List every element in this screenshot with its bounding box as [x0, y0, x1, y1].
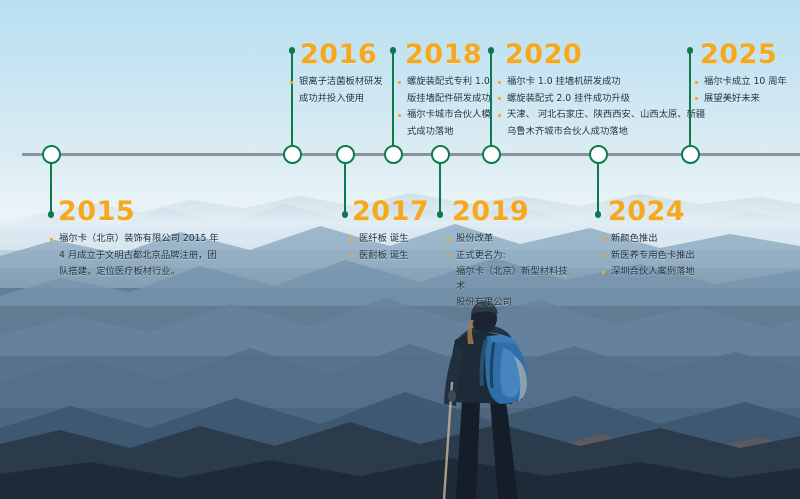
milestone-item: 天津、 河北石家庄、陕西西安、山西太原、新疆	[498, 108, 715, 123]
milestone-item: 螺旋装配式 2.0 挂件成功升级	[498, 92, 715, 107]
milestone-block-2016: 2016银离子洁菌板材研发成功并投入使用	[290, 41, 406, 108]
milestone-item: 版挂墙配件研发成功	[398, 92, 514, 107]
timeline-node-2024[interactable]	[589, 145, 608, 164]
milestone-stem-2020	[490, 50, 492, 154]
milestone-items-2016: 银离子洁菌板材研发成功并投入使用	[290, 75, 406, 106]
milestone-item: 深圳合伙人案例落地	[602, 265, 764, 280]
milestone-stem-dot-2024	[595, 211, 602, 218]
milestone-item: 成功并投入使用	[290, 92, 406, 107]
milestone-stem-2018	[392, 50, 394, 154]
milestone-item: 福尔卡成立 10 周年	[695, 75, 800, 90]
milestone-year-2015: 2015	[58, 198, 234, 225]
milestone-year-2020: 2020	[505, 41, 715, 68]
milestone-stem-dot-2017	[342, 211, 349, 218]
milestone-block-2018: 2018螺旋装配式专利 1.0版挂墙配件研发成功福尔卡城市合伙人模式成功落地	[398, 41, 514, 141]
milestone-items-2020: 福尔卡 1.0 挂墙机研发成功螺旋装配式 2.0 挂件成功升级天津、 河北石家庄…	[498, 75, 715, 139]
timeline-infographic: 2015福尔卡（北京）装饰有限公司 2015 年4 月成立于文明古都北京品牌注册…	[0, 0, 800, 499]
milestone-item: 股份改革	[447, 232, 569, 247]
timeline-node-2017[interactable]	[336, 145, 355, 164]
timeline-node-2015[interactable]	[42, 145, 61, 164]
milestone-item: 展望美好未来	[695, 92, 800, 107]
milestone-item: 乌鲁木齐城市合伙人成功落地	[498, 125, 715, 140]
timeline-node-2020[interactable]	[482, 145, 501, 164]
milestone-items-2018: 螺旋装配式专利 1.0版挂墙配件研发成功福尔卡城市合伙人模式成功落地	[398, 75, 514, 139]
milestone-item: 新颜色推出	[602, 232, 764, 247]
milestone-item: 4 月成立于文明古都北京品牌注册，团	[50, 249, 234, 264]
milestone-item: 螺旋装配式专利 1.0	[398, 75, 514, 90]
milestone-item: 福尔卡（北京）新型材料技术	[447, 265, 569, 294]
milestone-year-2024: 2024	[608, 198, 764, 225]
milestone-item: 福尔卡城市合伙人模	[398, 108, 514, 123]
milestone-block-2019: 2019股份改革正式更名为:福尔卡（北京）新型材料技术股份有限公司	[447, 198, 569, 313]
milestone-items-2019: 股份改革正式更名为:福尔卡（北京）新型材料技术股份有限公司	[447, 232, 569, 311]
milestone-block-2024: 2024新颜色推出新医养专用色卡推出深圳合伙人案例落地	[602, 198, 764, 282]
milestone-block-2020: 2020福尔卡 1.0 挂墙机研发成功螺旋装配式 2.0 挂件成功升级天津、 河…	[498, 41, 715, 141]
timeline-node-2018[interactable]	[384, 145, 403, 164]
milestone-block-2025: 2025福尔卡成立 10 周年展望美好未来	[695, 41, 800, 108]
milestone-block-2015: 2015福尔卡（北京）装饰有限公司 2015 年4 月成立于文明古都北京品牌注册…	[50, 198, 234, 282]
milestone-item: 股份有限公司	[447, 296, 569, 311]
milestone-year-2025: 2025	[700, 41, 800, 68]
milestone-stem-dot-2018	[390, 47, 397, 54]
timeline-node-2016[interactable]	[283, 145, 302, 164]
milestone-item: 队搭建，定位医疗板材行业。	[50, 265, 234, 280]
milestone-item: 福尔卡（北京）装饰有限公司 2015 年	[50, 232, 234, 247]
milestone-items-2015: 福尔卡（北京）装饰有限公司 2015 年4 月成立于文明古都北京品牌注册，团队搭…	[50, 232, 234, 280]
milestone-stem-dot-2020	[488, 47, 495, 54]
timeline-node-2019[interactable]	[431, 145, 450, 164]
milestone-item: 正式更名为:	[447, 249, 569, 264]
milestone-item: 银离子洁菌板材研发	[290, 75, 406, 90]
milestone-stem-2025	[689, 50, 691, 154]
milestone-item: 新医养专用色卡推出	[602, 249, 764, 264]
milestone-stem-dot-2025	[687, 47, 694, 54]
milestone-year-2016: 2016	[300, 41, 406, 68]
milestone-items-2024: 新颜色推出新医养专用色卡推出深圳合伙人案例落地	[602, 232, 764, 280]
timeline-node-2025[interactable]	[681, 145, 700, 164]
milestone-item: 福尔卡 1.0 挂墙机研发成功	[498, 75, 715, 90]
milestone-year-2019: 2019	[452, 198, 569, 225]
milestone-item: 式成功落地	[398, 125, 514, 140]
milestone-items-2025: 福尔卡成立 10 周年展望美好未来	[695, 75, 800, 106]
milestone-stem-dot-2019	[437, 211, 444, 218]
